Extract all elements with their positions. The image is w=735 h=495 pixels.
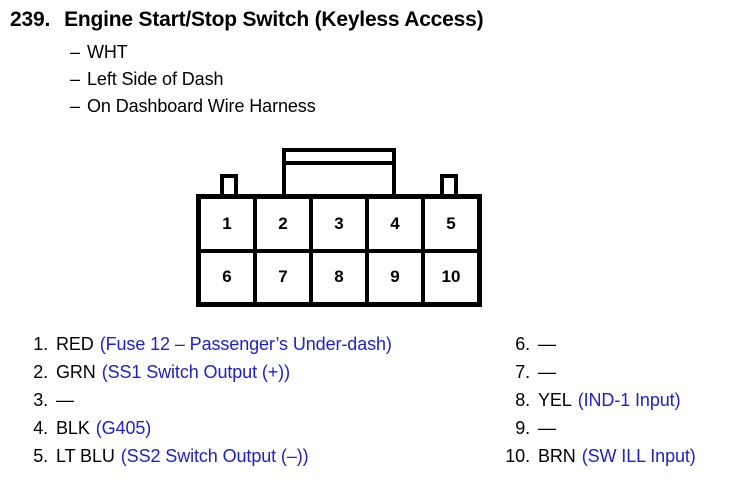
pin-list-item-4: 4. BLK (G405) — [18, 418, 392, 446]
pin-cell-10[interactable]: 10 — [425, 253, 477, 303]
pin-cell-2[interactable]: 2 — [257, 199, 313, 249]
pin-wire-color: — — [538, 334, 556, 355]
pin-number: 10. — [500, 446, 530, 467]
pin-wire-color: BLK — [56, 418, 90, 439]
pin-description: (G405) — [96, 418, 151, 439]
pin-list-item-10: 10. BRN (SW ILL Input) — [500, 446, 696, 474]
pin-number: 2. — [18, 362, 48, 383]
pin-description: (SW ILL Input) — [582, 446, 696, 467]
pin-wire-color: BRN — [538, 446, 576, 467]
dash-bullet-icon: – — [70, 96, 87, 117]
pin-list-item-1: 1. RED (Fuse 12 – Passenger’s Under-dash… — [18, 334, 392, 362]
dash-bullet-icon: – — [70, 42, 87, 63]
pin-list-left-column: 1. RED (Fuse 12 – Passenger’s Under-dash… — [18, 334, 392, 474]
pin-number: 7. — [500, 362, 530, 383]
detail-text: WHT — [87, 42, 128, 62]
pin-wire-color: — — [56, 390, 74, 411]
connector-pin-grid: 1 2 3 4 5 6 7 8 9 10 — [196, 194, 482, 307]
pin-description: (SS1 Switch Output (+)) — [102, 362, 290, 383]
pin-number: 9. — [500, 418, 530, 439]
pin-number: 5. — [18, 446, 48, 467]
pin-cell-5[interactable]: 5 — [425, 199, 477, 249]
dash-bullet-icon: – — [70, 69, 87, 90]
detail-text: Left Side of Dash — [87, 69, 223, 89]
pin-number: 1. — [18, 334, 48, 355]
pin-cell-7[interactable]: 7 — [257, 253, 313, 303]
pin-list-item-5: 5. LT BLU (SS2 Switch Output (–)) — [18, 446, 392, 474]
pin-list-item-3: 3. — — [18, 390, 392, 418]
pin-description: (Fuse 12 – Passenger’s Under-dash) — [100, 334, 392, 355]
pin-list-item-9: 9. — — [500, 418, 696, 446]
connector-latch-line — [286, 161, 392, 165]
pin-wire-color: — — [538, 362, 556, 383]
connector-diagram: 1 2 3 4 5 6 7 8 9 10 — [196, 148, 482, 308]
entry-number: 239. — [10, 8, 50, 32]
pin-wire-color: — — [538, 418, 556, 439]
pin-row-bottom: 6 7 8 9 10 — [201, 249, 477, 303]
pin-row-top: 1 2 3 4 5 — [201, 199, 477, 249]
detail-line-harness: –On Dashboard Wire Harness — [70, 96, 316, 117]
pin-cell-4[interactable]: 4 — [369, 199, 425, 249]
pin-list-item-7: 7. — — [500, 362, 696, 390]
entry-title: Engine Start/Stop Switch (Keyless Access… — [64, 8, 483, 32]
pin-cell-9[interactable]: 9 — [369, 253, 425, 303]
connector-latch-block — [282, 148, 396, 196]
pin-number: 3. — [18, 390, 48, 411]
detail-line-location: –Left Side of Dash — [70, 69, 223, 90]
pin-wire-color: GRN — [56, 362, 96, 383]
pin-wire-color: LT BLU — [56, 446, 115, 467]
detail-text: On Dashboard Wire Harness — [87, 96, 316, 116]
detail-line-wire-color: –WHT — [70, 42, 128, 63]
pin-cell-8[interactable]: 8 — [313, 253, 369, 303]
pin-cell-6[interactable]: 6 — [201, 253, 257, 303]
pin-number: 4. — [18, 418, 48, 439]
pin-list-item-6: 6. — — [500, 334, 696, 362]
pin-number: 6. — [500, 334, 530, 355]
pin-list-item-2: 2. GRN (SS1 Switch Output (+)) — [18, 362, 392, 390]
pin-cell-3[interactable]: 3 — [313, 199, 369, 249]
pin-description: (SS2 Switch Output (–)) — [121, 446, 309, 467]
pin-cell-1[interactable]: 1 — [201, 199, 257, 249]
pin-number: 8. — [500, 390, 530, 411]
pin-list-right-column: 6. — 7. — 8. YEL (IND-1 Input) 9. — 10. … — [500, 334, 696, 474]
pin-wire-color: YEL — [538, 390, 572, 411]
pin-description: (IND-1 Input) — [578, 390, 681, 411]
page-title: 239. Engine Start/Stop Switch (Keyless A… — [10, 8, 483, 32]
pin-wire-color: RED — [56, 334, 94, 355]
pin-list-item-8: 8. YEL (IND-1 Input) — [500, 390, 696, 418]
